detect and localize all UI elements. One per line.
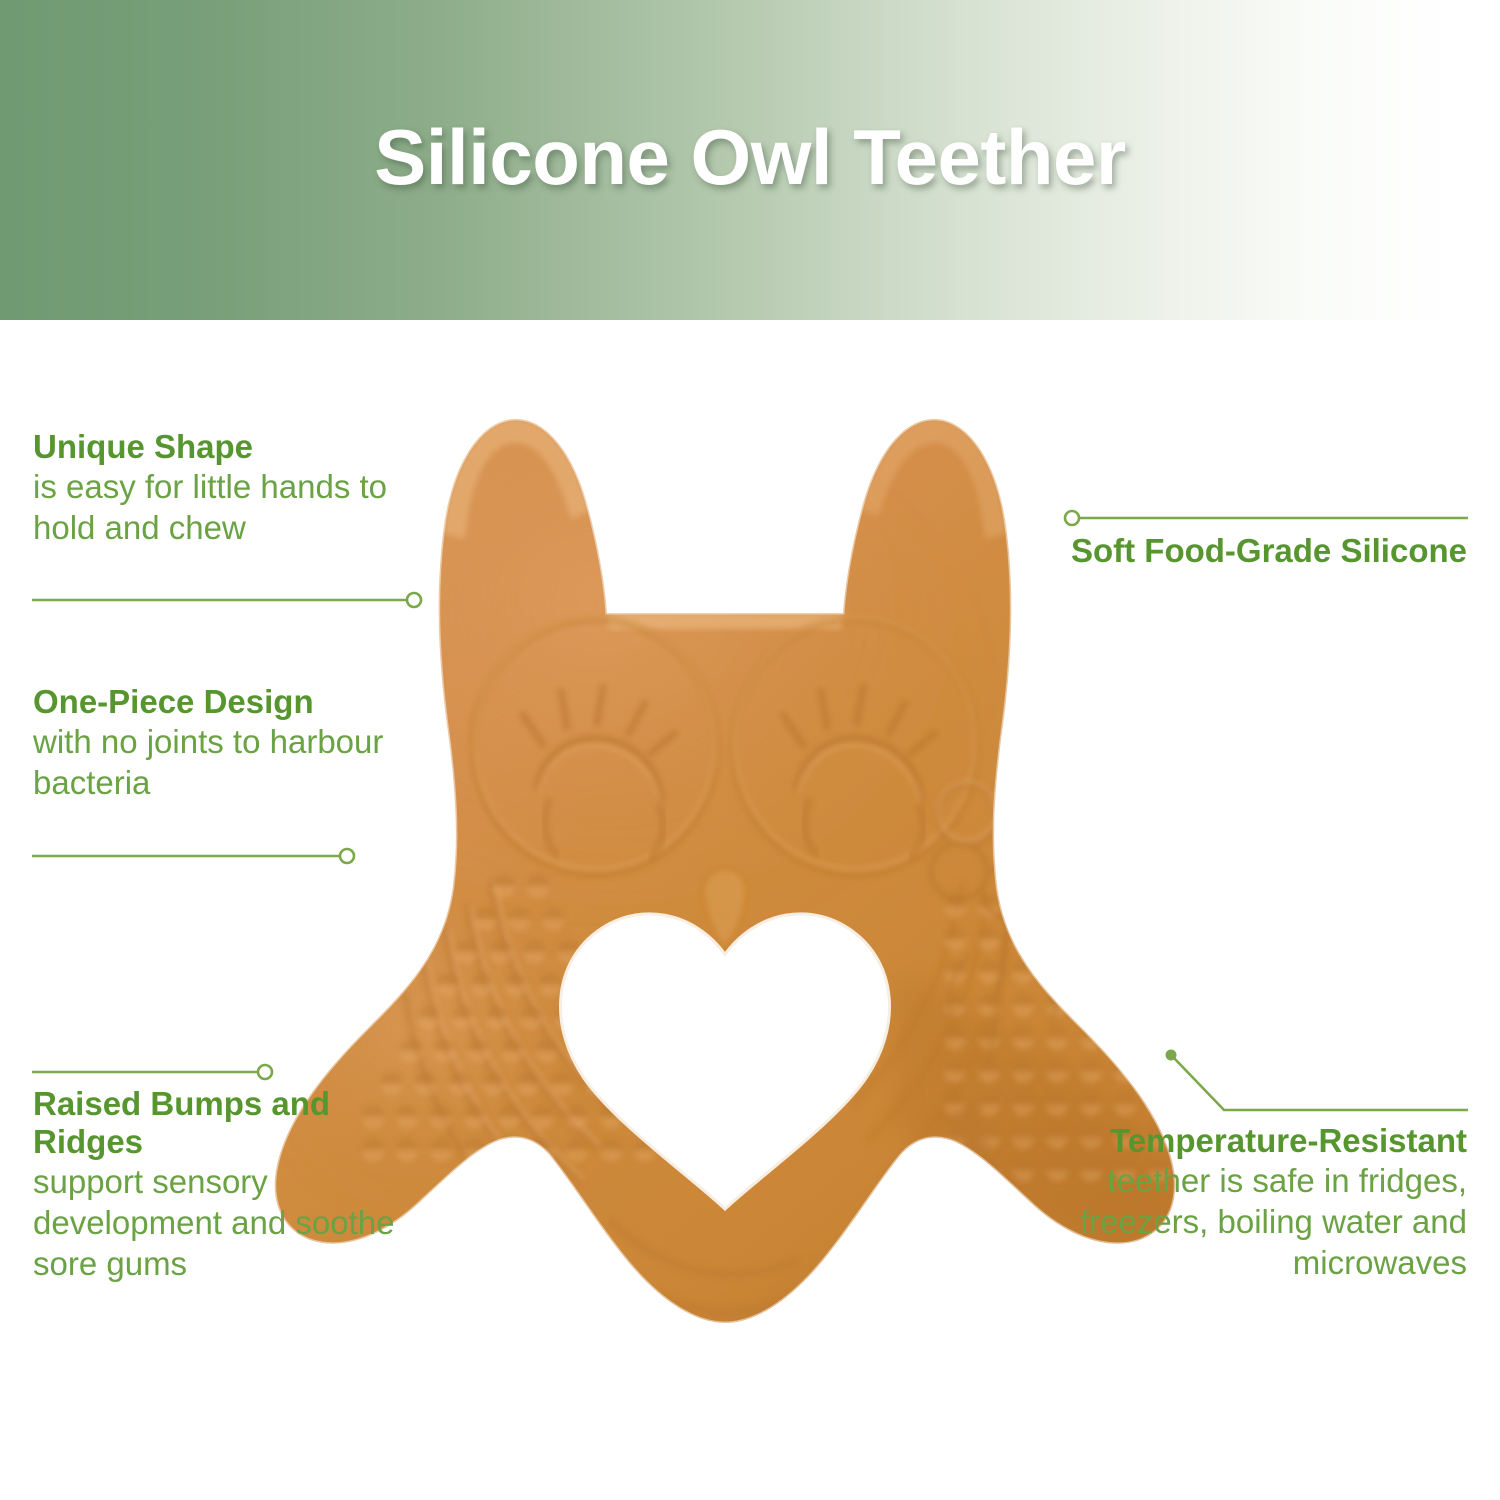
- callout-temp-resistant-heading: Temperature-Resistant: [997, 1122, 1467, 1160]
- callout-unique-shape-heading: Unique Shape: [33, 428, 453, 466]
- callout-soft-silicone-heading: Soft Food-Grade Silicone: [1037, 532, 1467, 570]
- page-title: Silicone Owl Teether: [0, 0, 1500, 320]
- callout-unique-shape-body: is easy for little hands to hold and che…: [33, 466, 453, 548]
- callout-unique-shape: Unique Shape is easy for little hands to…: [33, 428, 453, 548]
- header-banner: Silicone Owl Teether: [0, 0, 1500, 320]
- callout-raised-bumps-body: support sensory development and soothe s…: [33, 1161, 433, 1284]
- callout-raised-bumps: Raised Bumps and Ridges support sensory …: [33, 1085, 433, 1284]
- callout-one-piece-heading: One-Piece Design: [33, 683, 433, 721]
- line-raised-bumps: [32, 1065, 272, 1079]
- callout-one-piece: One-Piece Design with no joints to harbo…: [33, 683, 433, 803]
- callout-soft-silicone: Soft Food-Grade Silicone: [1037, 532, 1467, 570]
- line-temp-resistant: [1166, 1050, 1469, 1111]
- callout-one-piece-body: with no joints to harbour bacteria: [33, 721, 433, 803]
- callout-raised-bumps-heading: Raised Bumps and Ridges: [33, 1085, 433, 1161]
- infographic-root: Silicone Owl Teether: [0, 0, 1500, 1500]
- callout-temp-resistant-body: teether is safe in fridges, freezers, bo…: [997, 1160, 1467, 1283]
- callout-temp-resistant: Temperature-Resistant teether is safe in…: [997, 1122, 1467, 1283]
